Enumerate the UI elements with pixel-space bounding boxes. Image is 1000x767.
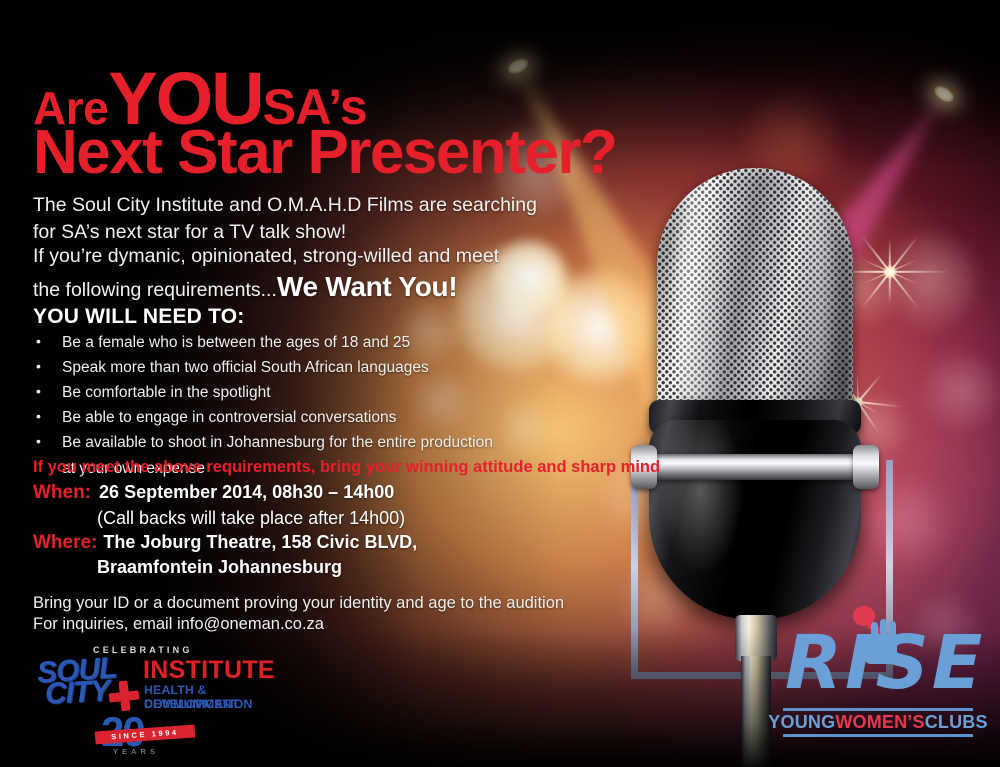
list-item: Be comfortable in the spotlight [33,380,493,405]
rise-tagline: YOUNG WOMEN’S CLUBS [783,711,973,733]
detail-when: When:26 September 2014, 08h30 – 14h00 [33,482,394,504]
fist-thumb [862,638,874,647]
list-item: Be available to shoot in Johannesburg fo… [33,430,493,455]
callback-note: (Call backs will take place after 14h00) [97,508,405,528]
where-label: Where: [33,532,97,553]
poster-content: AreYOUSA’s Next Star Presenter? The Soul… [0,0,1000,767]
fist-finger [880,619,887,635]
list-item: Be able to engage in controversial conve… [33,405,493,430]
logo-institute-text: INSTITUTE [143,656,275,685]
logo-subtitle-line-2: COMMUNICATION [144,697,252,711]
rise-young-womens-clubs-logo: RISE YOUNG WOMEN’S CLUBS [775,608,980,740]
when-value: 26 September 2014, 08h30 – 14h00 [99,482,394,502]
anniversary-badge: 20 SINCE 1994 YEARS [95,715,205,757]
rise-divider-bottom [783,734,973,737]
audition-poster: AreYOUSA’s Next Star Presenter? The Soul… [0,0,1000,767]
raised-fist-icon [859,612,905,670]
intro-line-4-text: the following requirements... [33,279,277,301]
list-item: Be a female who is between the ages of 1… [33,330,493,355]
cross-horizontal-bar [109,690,140,702]
intro-line-4: the following requirements...We Want You… [33,268,457,307]
detail-callback: (Call backs will take place after 14h00) [97,508,405,529]
footer-line-1: Bring your ID or a document proving your… [33,594,564,613]
we-want-you-emphasis: We Want You! [277,271,457,302]
soul-city-institute-logo: CELEBRATING SOUL CITY INSTITUTE HEALTH &… [33,645,273,755]
detail-where-line-2: Braamfontein Johannesburg [97,557,342,578]
rise-tagline-young: YOUNG [768,712,835,733]
intro-line-3: If you’re dymanic, opinionated, strong-w… [33,243,499,270]
where-value-2: Braamfontein Johannesburg [97,557,342,577]
intro-line-1: The Soul City Institute and O.M.A.H.D Fi… [33,192,537,219]
headline-line-2: Next Star Presenter? [33,122,616,184]
rise-tagline-clubs: CLUBS [925,712,988,733]
intro-line-2: for SA’s next star for a TV talk show! [33,219,346,246]
when-label: When: [33,482,91,503]
where-value: The Joburg Theatre, 158 Civic BLVD, [103,532,417,552]
requirements-heading: YOU WILL NEED TO: [33,305,244,329]
anniversary-years-text: YEARS [113,747,159,756]
logo-city-text: CITY [44,677,110,708]
list-item: Speak more than two official South Afric… [33,355,493,380]
call-to-action-line: If you meet the above requirements, brin… [33,458,660,477]
rise-tagline-womens: WOMEN’S [835,712,924,733]
footer-line-2: For inquiries, email info@oneman.co.za [33,615,324,634]
detail-where: Where:The Joburg Theatre, 158 Civic BLVD… [33,532,417,554]
